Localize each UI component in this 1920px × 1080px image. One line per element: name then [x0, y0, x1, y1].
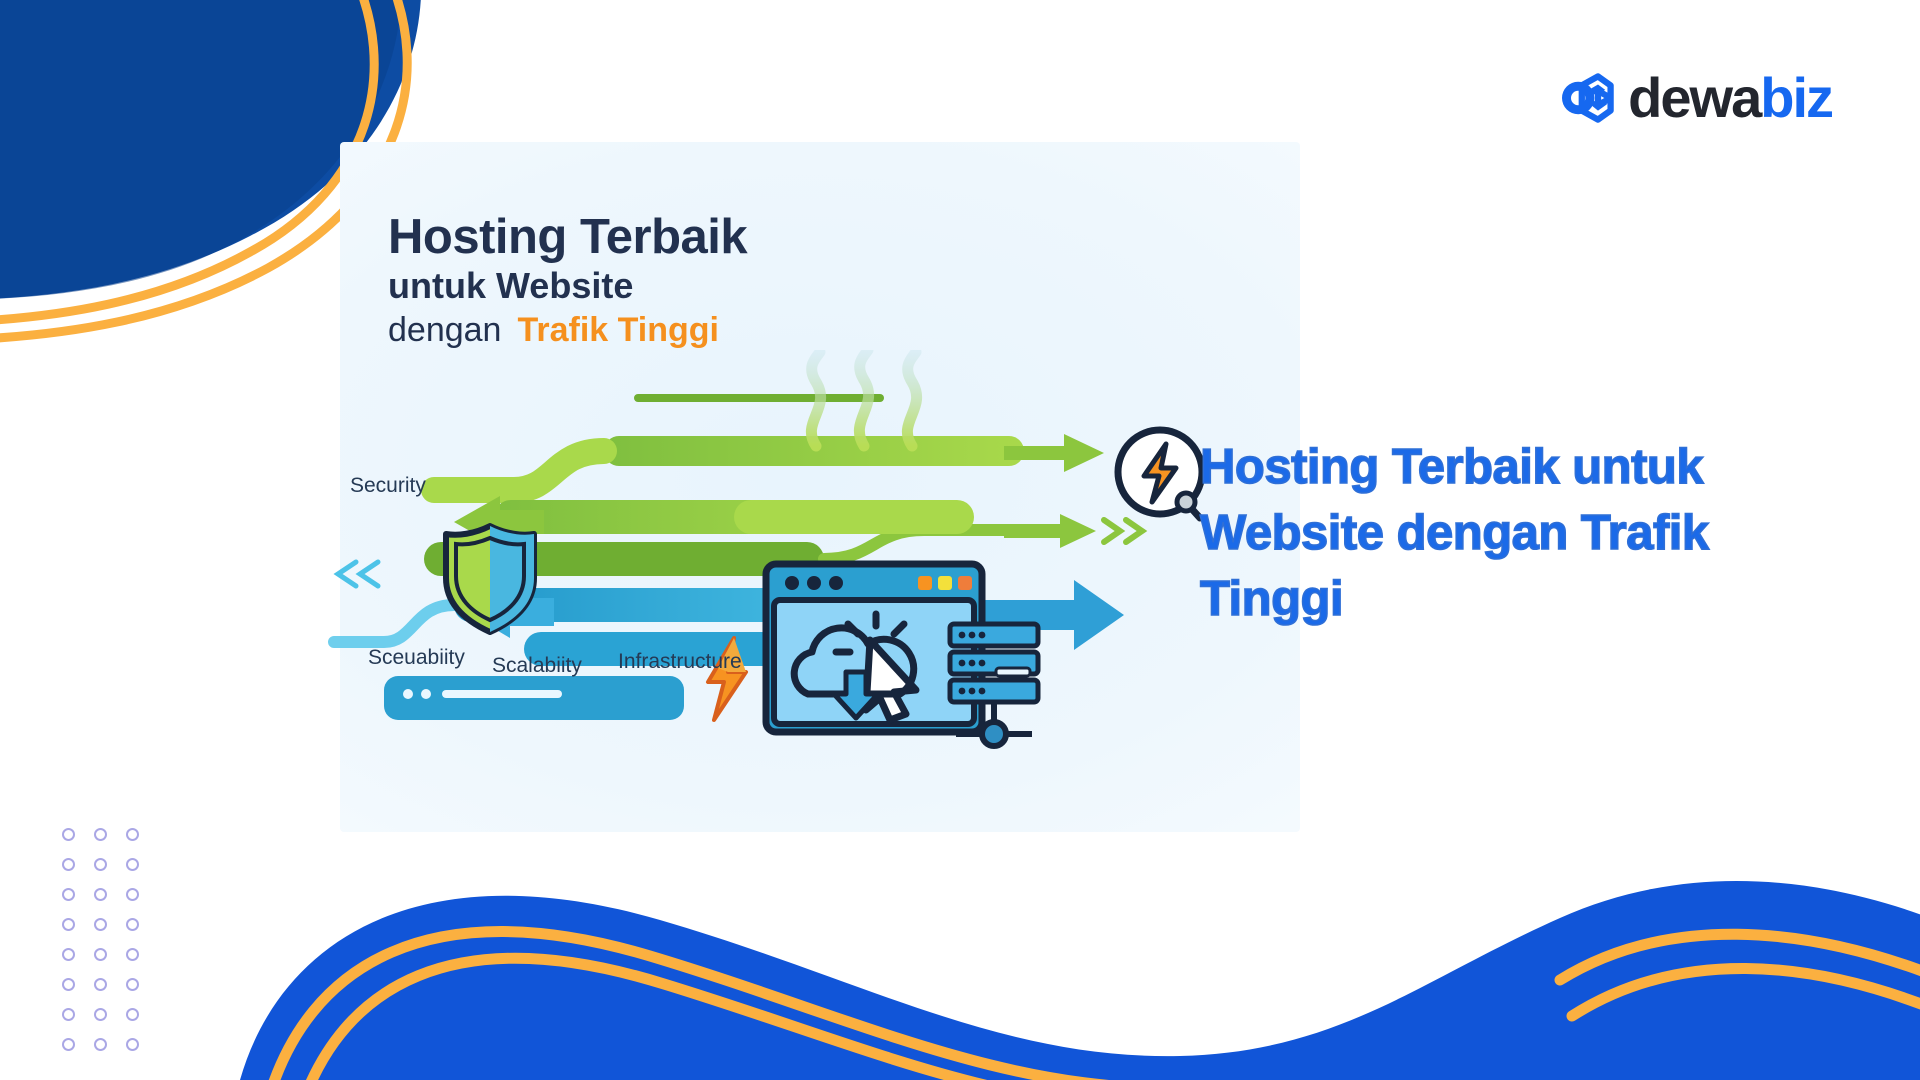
network-flow-graphic [304, 350, 1304, 810]
feature-label-infrastructure: Infrastructure [618, 650, 742, 674]
logo-text-accent: biz [1760, 66, 1832, 129]
zigzag-decoration [1640, 910, 1840, 980]
chevrons-right [1104, 520, 1142, 542]
illustration-title-line2: untuk Website [388, 263, 948, 309]
dot-grid-decoration [62, 828, 158, 1068]
brand-logo[interactable]: dewabiz [1562, 70, 1832, 126]
illustration-title-plain: dengan [388, 311, 501, 349]
bottom-wave-decoration [0, 860, 1920, 1080]
zigzag-line-top [1710, 924, 1792, 940]
browser-window-cursor-icon [766, 564, 982, 732]
feature-label-security: Security [350, 474, 426, 498]
feature-label-scalability: Scalabiity [492, 654, 582, 678]
page-title: Hosting Terbaik untuk Website dengan Tra… [1200, 434, 1860, 632]
illustration-title: Hosting Terbaik untuk Website denganTraf… [388, 212, 948, 353]
dewabiz-hexagon-icon [1562, 71, 1616, 125]
brand-wordmark: dewabiz [1628, 70, 1832, 126]
poster-canvas: dewabiz Hosting Terbaik untuk Website de… [0, 0, 1920, 1080]
illustration-title-line3: denganTrafik Tinggi [388, 309, 948, 353]
arrow-right-green-mid [1004, 514, 1096, 548]
zigzag-line-bottom [1644, 950, 1784, 966]
arrow-right-green-top [1004, 434, 1104, 472]
feature-label-speed: Sceuabiity [368, 646, 465, 670]
illustration-title-highlight: Trafik Tinggi [517, 311, 719, 349]
chevrons-left [338, 562, 378, 586]
bottom-wave-swirl-outer [268, 932, 1180, 1080]
top-left-swirl-outer [0, 0, 374, 322]
logo-text-dark: dewa [1628, 66, 1760, 129]
bottom-wave-swirl-inner [300, 958, 1180, 1080]
hosting-illustration-card: Hosting Terbaik untuk Website denganTraf… [340, 142, 1300, 832]
illustration-title-line1: Hosting Terbaik [388, 212, 948, 263]
lightning-circle-icon [1118, 430, 1202, 518]
